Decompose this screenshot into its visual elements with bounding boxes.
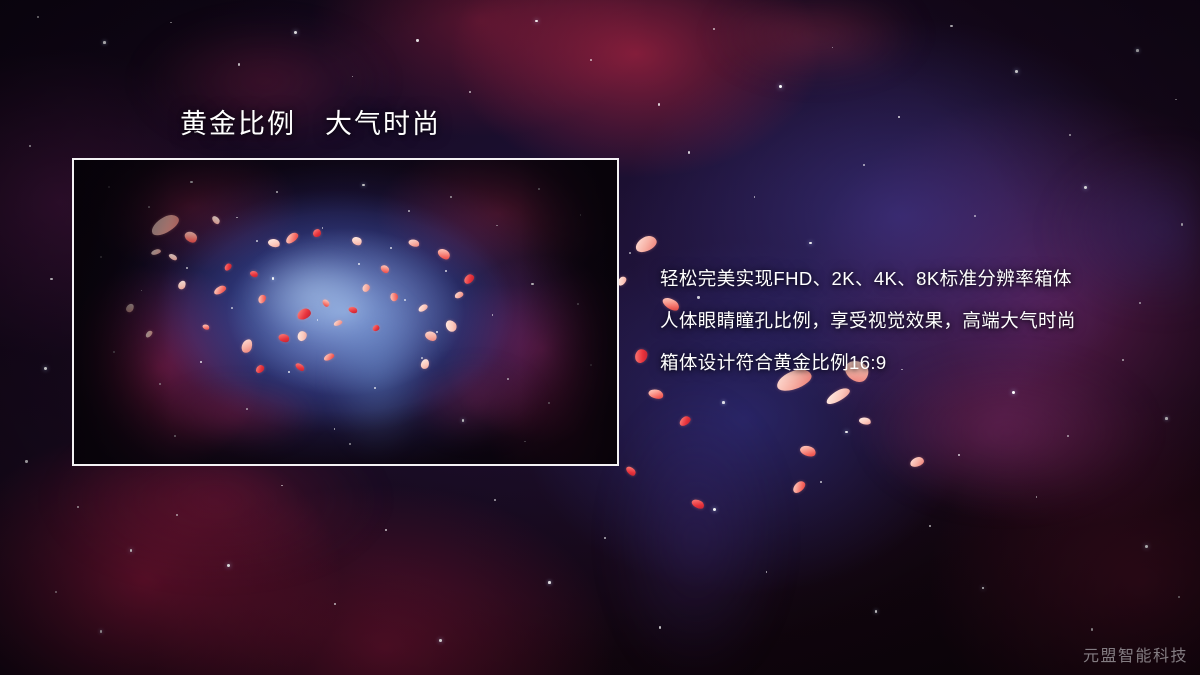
petal (909, 456, 925, 468)
slide-canvas: 黄金比例 大气时尚 轻松完美实现FHD、2K、4K、8K标准分辨率箱体 人体眼睛… (0, 0, 1200, 675)
petal (824, 386, 852, 407)
framed-nebula-photo (72, 158, 619, 466)
petal (633, 234, 659, 255)
petal (648, 387, 665, 400)
body-line-2: 人体眼睛瞳孔比例，享受视觉效果，高端大气时尚 (660, 300, 1160, 342)
petal (678, 415, 692, 428)
petal (791, 479, 808, 495)
page-title: 黄金比例 大气时尚 (180, 102, 441, 141)
body-line-3: 箱体设计符合黄金比例16:9 (660, 342, 1160, 384)
petal (798, 443, 817, 458)
frame-vignette (74, 160, 617, 464)
petal (859, 416, 872, 426)
petal (691, 497, 706, 510)
petal (632, 347, 650, 365)
frame-image-inner (74, 160, 617, 464)
watermark-brand: 元盟智能科技 (1083, 642, 1188, 666)
body-text-block: 轻松完美实现FHD、2K、4K、8K标准分辨率箱体 人体眼睛瞳孔比例，享受视觉效… (660, 258, 1160, 384)
petal (625, 465, 638, 478)
body-line-1: 轻松完美实现FHD、2K、4K、8K标准分辨率箱体 (660, 258, 1160, 300)
